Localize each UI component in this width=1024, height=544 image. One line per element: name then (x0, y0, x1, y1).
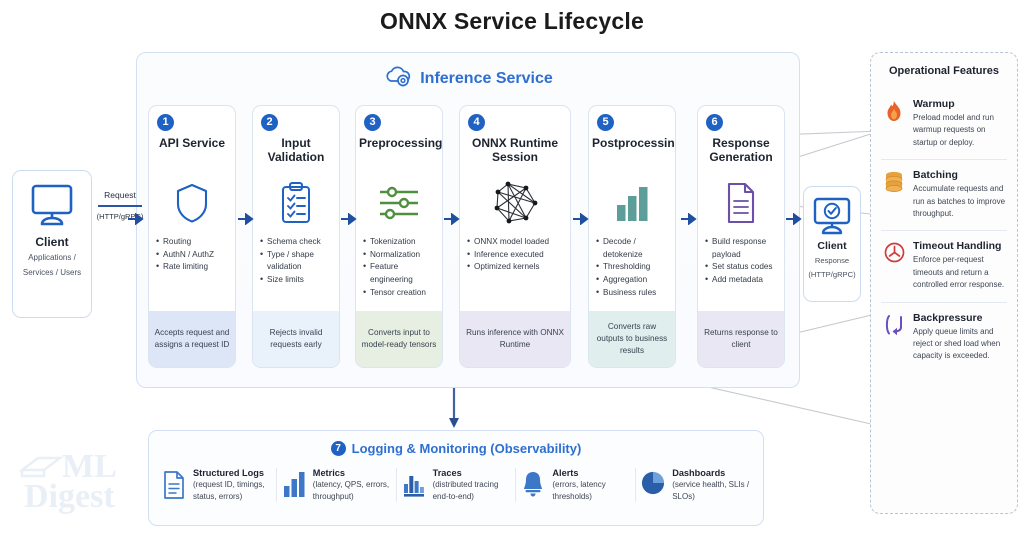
stage-number-badge: 5 (597, 114, 614, 131)
ml-digest-watermark: ML Digest (14, 446, 144, 528)
client-left-sub-2: Services / Users (13, 267, 91, 279)
stage-footer-note: Converts input to model-ready tensors (356, 311, 442, 367)
ops-item-timeout-handling[interactable]: Timeout Handling Enforce per-request tim… (881, 230, 1007, 301)
log-item-desc: (errors, latency thresholds) (552, 479, 630, 502)
ops-item-title: Timeout Handling (913, 240, 1007, 252)
stage-footer-note: Runs inference with ONNX Runtime (460, 311, 570, 367)
stage-bullet: Decode / detokenize (596, 236, 671, 261)
inference-service-header: Inference Service (137, 65, 799, 92)
stage-bullet-list: Build response payload Set status codes … (705, 236, 780, 287)
ops-item-batching[interactable]: Batching Accumulate requests and run as … (881, 159, 1007, 230)
log-item-title: Metrics (313, 468, 391, 478)
flow-arrow-5-to-6 (681, 212, 703, 224)
stage-title: Input Validation (256, 136, 336, 164)
stage-number-badge: 1 (157, 114, 174, 131)
stage-bullet: Feature engineering (363, 261, 438, 286)
client-right-box[interactable]: Client Response (HTTP/gRPC) (803, 186, 861, 302)
histogram-icon (402, 468, 426, 502)
stage-bullet: Add metadata (705, 274, 780, 287)
stage-bullet: Type / shape validation (260, 249, 335, 274)
stage-number-badge: 6 (706, 114, 723, 131)
document-lines-icon (162, 468, 186, 502)
ops-item-title: Batching (913, 169, 1007, 181)
log-item-metrics[interactable]: Metrics (latency, QPS, errors, throughpu… (276, 468, 396, 502)
stage-footer-note: Returns response to client (698, 311, 784, 367)
bar-chart-icon (589, 178, 675, 228)
stage-title: Preprocessing (359, 136, 439, 150)
stage-bullet: Routing (156, 236, 231, 249)
stage-bullet: Tokenization (363, 236, 438, 249)
stage-title: Response Generation (701, 136, 781, 164)
stage-footer-note: Rejects invalid requests early (253, 311, 339, 367)
ops-item-desc: Apply queue limits and reject or shed lo… (913, 326, 1007, 363)
monitor-check-icon (804, 197, 860, 235)
logging-monitoring-panel: 7 Logging & Monitoring (Observability) S… (148, 430, 764, 526)
flow-arrow-down-to-logging (447, 388, 461, 435)
flow-arrow-client-to-api (128, 212, 144, 224)
log-item-desc: (request ID, timings, status, errors) (193, 479, 271, 502)
stage-card-input-validation[interactable]: 2 Input Validation Schema check Type / s… (252, 105, 340, 368)
log-item-title: Alerts (552, 468, 630, 478)
flow-arrow-4-to-5 (573, 212, 595, 224)
client-right-sub-1: Response (804, 255, 860, 266)
ops-item-desc: Enforce per-request timeouts and return … (913, 254, 1007, 291)
log-item-desc: (service health, SLIs / SLOs) (672, 479, 750, 502)
log-item-traces[interactable]: Traces (distributed tracing end-to-end) (396, 468, 516, 502)
stage-card-api-service[interactable]: 1 API Service Routing AuthN / AuthZ Rate… (148, 105, 236, 368)
stage-bullet: ONNX model loaded (467, 236, 566, 249)
stage-bullet: Build response payload (705, 236, 780, 261)
flame-icon (883, 98, 905, 149)
stage-bullet-list: Decode / detokenize Thresholding Aggrega… (596, 236, 671, 300)
flow-arrow-3-to-4 (444, 212, 466, 224)
stage-bullet: AuthN / AuthZ (156, 249, 231, 262)
stage-bullet: Thresholding (596, 261, 671, 274)
log-item-desc: (latency, QPS, errors, throughput) (313, 479, 391, 502)
stage-bullet: Inference executed (467, 249, 566, 262)
client-right-sub-2: (HTTP/gRPC) (804, 269, 860, 280)
stage-bullet: Business rules (596, 287, 671, 300)
database-stack-icon (883, 169, 905, 220)
stage-bullet: Tensor creation (363, 287, 438, 300)
stage-bullet: Schema check (260, 236, 335, 249)
stage-card-response-generation[interactable]: 6 Response Generation Build response pay… (697, 105, 785, 368)
logging-monitoring-header: 7 Logging & Monitoring (Observability) (149, 441, 763, 456)
watermark-line-2: Digest (24, 478, 115, 516)
stage-card-onnx-runtime-session[interactable]: 4 ONNX Runtime Session ONNX mo (459, 105, 571, 368)
stage-title: API Service (152, 136, 232, 150)
stage-bullet-list: Tokenization Normalization Feature engin… (363, 236, 438, 300)
ops-item-desc: Accumulate requests and run as batches t… (913, 183, 1007, 220)
stage-bullet: Size limits (260, 274, 335, 287)
stage-bullet-list: Routing AuthN / AuthZ Rate limiting (156, 236, 231, 274)
flow-arrow-1-to-2 (238, 212, 260, 224)
request-line (98, 205, 142, 207)
bar-chart-icon (282, 468, 306, 502)
stage-bullet: Rate limiting (156, 261, 231, 274)
monitor-icon (13, 183, 91, 227)
flow-arrow-2-to-3 (341, 212, 363, 224)
operational-features-title: Operational Features (881, 65, 1007, 77)
graph-network-icon (460, 178, 570, 228)
return-arrow-icon (883, 312, 905, 363)
stage-bullet: Normalization (363, 249, 438, 262)
stage-bullet: Aggregation (596, 274, 671, 287)
stage-card-preprocessing[interactable]: 3 Preprocessing Tokenization Normalizati… (355, 105, 443, 368)
inference-service-label: Inference Service (420, 70, 553, 88)
sliders-icon (356, 178, 442, 228)
ops-item-backpressure[interactable]: Backpressure Apply queue limits and reje… (881, 302, 1007, 373)
shield-icon (149, 178, 235, 228)
stage-bullet-list: ONNX model loaded Inference executed Opt… (467, 236, 566, 274)
watermark-line-1: ML (62, 448, 117, 486)
stage-footer-note: Converts raw outputs to business results (589, 311, 675, 367)
ops-item-desc: Preload model and run warmup requests on… (913, 112, 1007, 149)
stage-number-badge: 3 (364, 114, 381, 131)
stage-title: Postprocessing (592, 136, 672, 150)
pie-chart-icon (641, 468, 665, 502)
client-right-name: Client (804, 240, 860, 252)
stage-number-badge: 4 (468, 114, 485, 131)
log-item-title: Dashboards (672, 468, 750, 478)
log-item-title: Structured Logs (193, 468, 271, 478)
ops-item-title: Backpressure (913, 312, 1007, 324)
log-item-structured-logs[interactable]: Structured Logs (request ID, timings, st… (157, 468, 276, 502)
page-title: ONNX Service Lifecycle (0, 8, 1024, 35)
client-left-name: Client (13, 235, 91, 249)
client-left-sub-1: Applications / (13, 252, 91, 264)
stage-footer-note: Accepts request and assigns a request ID (149, 311, 235, 367)
cloud-gear-icon (383, 65, 413, 92)
logging-number-badge: 7 (331, 441, 346, 456)
client-left-box[interactable]: Client Applications / Services / Users (12, 170, 92, 318)
flow-arrow-6-to-client (786, 212, 808, 224)
clock-icon (883, 240, 905, 291)
stage-title: ONNX Runtime Session (463, 136, 567, 164)
log-item-desc: (distributed tracing end-to-end) (433, 479, 511, 502)
request-label-text: Request (92, 190, 148, 200)
bell-icon (521, 468, 545, 502)
stage-card-postprocessing[interactable]: 5 Postprocessing Decode / detokenize Thr… (588, 105, 676, 368)
log-item-dashboards[interactable]: Dashboards (service health, SLIs / SLOs) (635, 468, 755, 502)
ops-item-title: Warmup (913, 98, 1007, 110)
log-item-alerts[interactable]: Alerts (errors, latency thresholds) (515, 468, 635, 502)
ops-item-warmup[interactable]: Warmup Preload model and run warmup requ… (881, 89, 1007, 159)
stage-number-badge: 2 (261, 114, 278, 131)
stage-bullet: Set status codes (705, 261, 780, 274)
log-item-title: Traces (433, 468, 511, 478)
operational-features-panel: Operational Features Warmup Preload mode… (870, 52, 1018, 514)
stage-bullet: Optimized kernels (467, 261, 566, 274)
stage-bullet-list: Schema check Type / shape validation Siz… (260, 236, 335, 287)
document-icon (698, 178, 784, 228)
logging-monitoring-label: Logging & Monitoring (Observability) (352, 441, 582, 456)
clipboard-check-icon (253, 178, 339, 228)
